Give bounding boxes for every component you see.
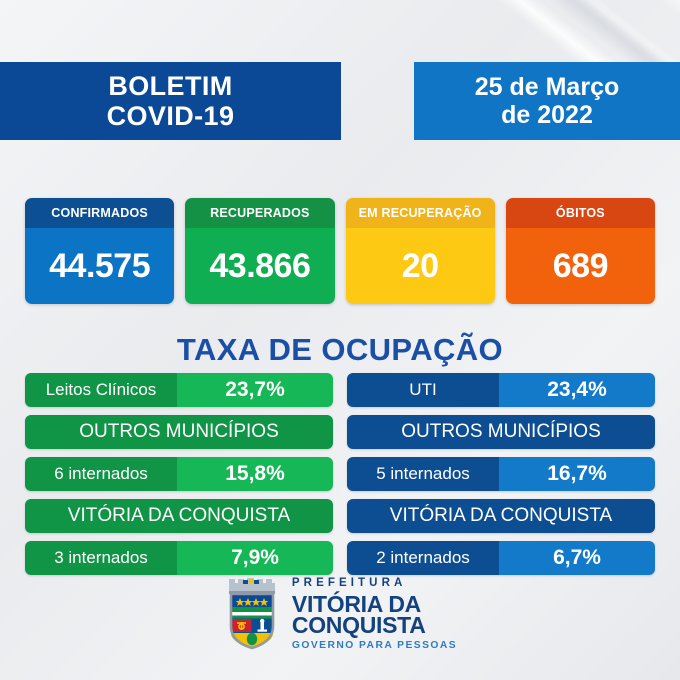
occupancy-row-label: 3 internados [25, 541, 177, 575]
stat-card-label: ÓBITOS [506, 198, 655, 228]
stat-card-label: CONFIRMADOS [25, 198, 174, 228]
stat-card-label: EM RECUPERAÇÃO [346, 198, 495, 228]
occupancy-row-label: 2 internados [347, 541, 499, 575]
bulletin-title-line2: COVID-19 [107, 101, 235, 131]
occupancy-group-header: OUTROS MUNICÍPIOS [347, 415, 655, 449]
occupancy-group-header: VITÓRIA DA CONQUISTA [347, 499, 655, 533]
occupancy-group-header: VITÓRIA DA CONQUISTA [25, 499, 333, 533]
stat-card: ÓBITOS689 [506, 198, 655, 304]
bulletin-date-line2: de 2022 [501, 101, 593, 129]
wordmark-city-line2: CONQUISTA [292, 614, 457, 637]
stat-card: CONFIRMADOS44.575 [25, 198, 174, 304]
bulletin-title-line1: BOLETIM [108, 71, 232, 101]
wordmark: PREFEITURA VITÓRIA DA CONQUISTA GOVERNO … [292, 578, 457, 651]
occupancy-row-label: UTI [347, 373, 499, 407]
stat-card-value: 44.575 [25, 228, 174, 304]
stat-card-label: RECUPERADOS [185, 198, 334, 228]
occupancy-column: Leitos Clínicos23,7%OUTROS MUNICÍPIOS6 i… [25, 373, 333, 575]
stat-card-value: 689 [506, 228, 655, 304]
occupancy-group-header: OUTROS MUNICÍPIOS [25, 415, 333, 449]
stat-card-value: 43.866 [185, 228, 334, 304]
bulletin-date-bar: 25 de Março de 2022 [414, 62, 680, 140]
occupancy-row-value: 16,7% [499, 457, 655, 491]
occupancy-row-value: 6,7% [499, 541, 655, 575]
occupancy-row: UTI23,4% [347, 373, 655, 407]
occupancy-row-value: 15,8% [177, 457, 333, 491]
occupancy-column: UTI23,4%OUTROS MUNICÍPIOS5 internados16,… [347, 373, 655, 575]
wordmark-tagline: GOVERNO PARA PESSOAS [292, 641, 457, 651]
occupancy-row: 3 internados7,9% [25, 541, 333, 575]
occupancy-row-label: 5 internados [347, 457, 499, 491]
bulletin-date-line1: 25 de Março [475, 73, 620, 101]
header: BOLETIM COVID-19 25 de Março de 2022 [0, 62, 680, 140]
stat-card-value: 20 [346, 228, 495, 304]
occupancy-columns: Leitos Clínicos23,7%OUTROS MUNICÍPIOS6 i… [25, 373, 655, 575]
occupancy-row-value: 7,9% [177, 541, 333, 575]
occupancy-row-value: 23,4% [499, 373, 655, 407]
occupancy-section-title: TAXA DE OCUPAÇÃO [0, 332, 680, 368]
stat-card-list: CONFIRMADOS44.575RECUPERADOS43.866EM REC… [25, 198, 655, 304]
occupancy-row: 6 internados15,8% [25, 457, 333, 491]
occupancy-row: 5 internados16,7% [347, 457, 655, 491]
bulletin-title-bar: BOLETIM COVID-19 [0, 62, 341, 140]
occupancy-row-label: 6 internados [25, 457, 177, 491]
occupancy-row: Leitos Clínicos23,7% [25, 373, 333, 407]
stat-card: RECUPERADOS43.866 [185, 198, 334, 304]
occupancy-row: 2 internados6,7% [347, 541, 655, 575]
occupancy-row-value: 23,7% [177, 373, 333, 407]
stat-card: EM RECUPERAÇÃO20 [346, 198, 495, 304]
occupancy-row-label: Leitos Clínicos [25, 373, 177, 407]
coat-of-arms-icon [223, 578, 281, 650]
footer-logo: PREFEITURA VITÓRIA DA CONQUISTA GOVERNO … [0, 578, 680, 651]
wordmark-prefeitura: PREFEITURA [292, 578, 457, 590]
